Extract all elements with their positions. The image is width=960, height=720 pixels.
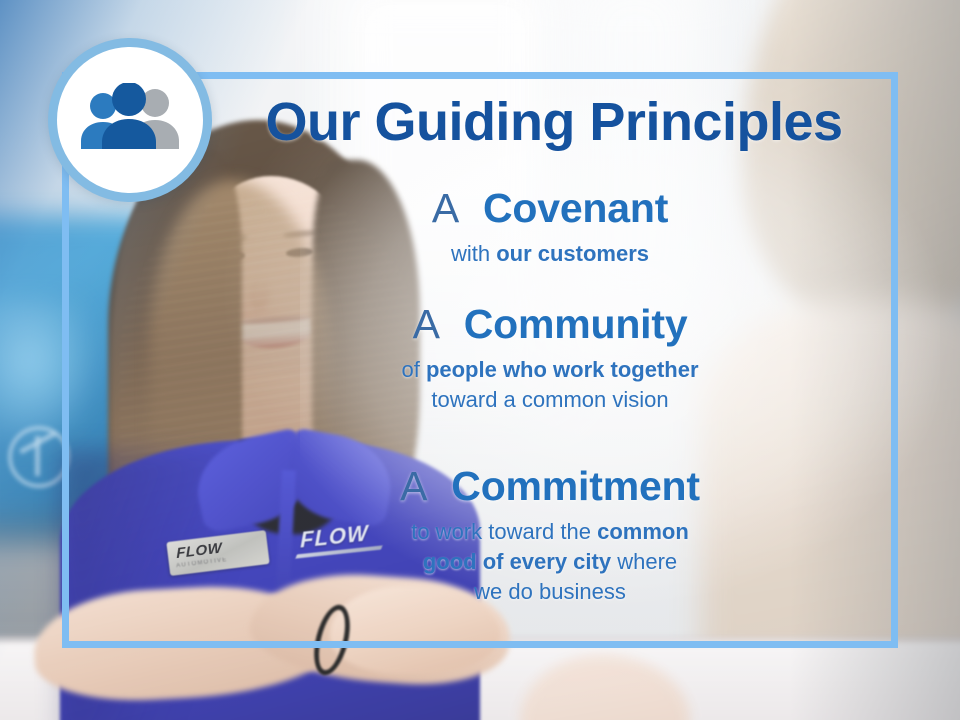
subtext-emphasis: good of every city <box>423 549 611 574</box>
subtext-run: with <box>451 241 496 266</box>
people-group-icon <box>74 83 186 157</box>
subtext-run: where <box>611 549 677 574</box>
principle-article: A <box>400 463 440 509</box>
subtext-emphasis: our customers <box>496 241 649 266</box>
principle-heading: A Community <box>200 300 900 348</box>
principle-commitment: A Commitment to work toward the commongo… <box>200 462 900 606</box>
principle-noun: Community <box>464 301 688 347</box>
guiding-principles-graphic: FLOW FLOW AUTOMOTIVE Our Guiding Princip… <box>0 0 960 720</box>
subtext-line: to work toward the common <box>200 517 900 547</box>
subtext-line: toward a common vision <box>200 385 900 415</box>
principle-subtext: of people who work togethertoward a comm… <box>200 355 900 414</box>
subtext-emphasis: common <box>597 519 689 544</box>
principle-article: A <box>432 185 472 231</box>
principle-community: A Community of people who work togethert… <box>200 300 900 415</box>
subtext-line: with our customers <box>200 239 900 269</box>
principle-heading: A Covenant <box>200 184 900 232</box>
subtext-emphasis: people who work together <box>426 357 699 382</box>
principle-noun: Covenant <box>483 185 668 231</box>
subtext-line: good of every city where <box>200 547 900 577</box>
principle-subtext: with our customers <box>200 239 900 269</box>
page-title: Our Guiding Principles <box>218 94 890 151</box>
subtext-run: toward a common vision <box>431 387 668 412</box>
window-light-b <box>560 0 710 320</box>
principle-heading: A Commitment <box>200 462 900 510</box>
subtext-run: we do business <box>474 579 626 604</box>
subtext-run: of <box>401 357 425 382</box>
principle-noun: Commitment <box>451 463 700 509</box>
principle-subtext: to work toward the commongood of every c… <box>200 517 900 606</box>
principle-article: A <box>413 301 453 347</box>
people-badge <box>48 38 212 202</box>
principle-covenant: A Covenant with our customers <box>200 184 900 269</box>
subtext-line: we do business <box>200 577 900 607</box>
subtext-run: to work toward the <box>411 519 597 544</box>
subtext-line: of people who work together <box>200 355 900 385</box>
